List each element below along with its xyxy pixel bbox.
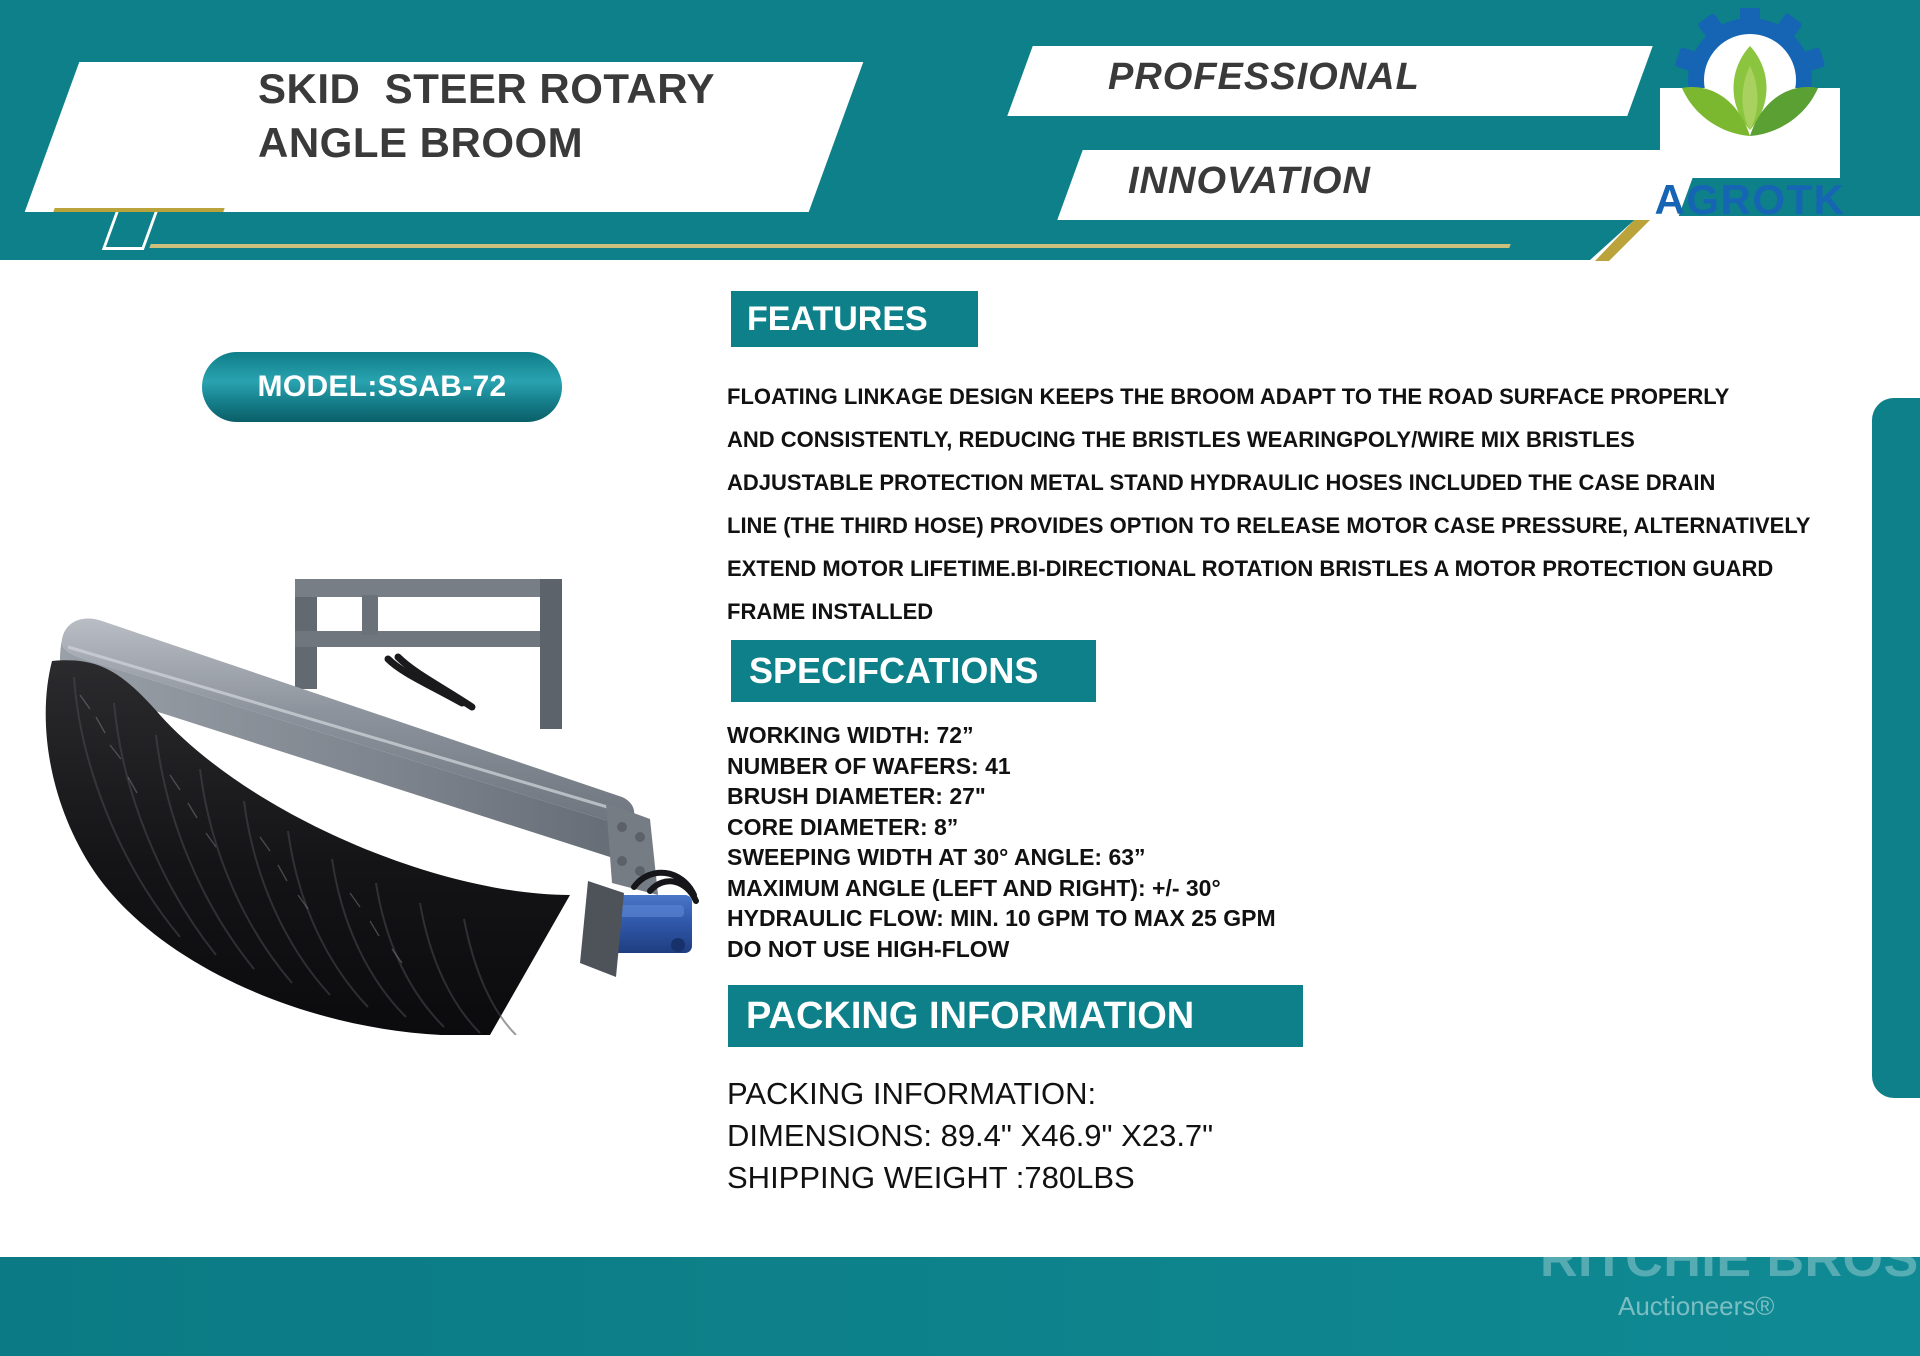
spec-line: WORKING WIDTH: 72”: [727, 720, 1427, 751]
page-title: SKID STEER ROTARY ANGLE BROOM: [258, 62, 878, 170]
hydraulic-hoses: [388, 657, 472, 707]
header-gold-line-2: [149, 244, 1510, 248]
right-edge-tab: [1872, 398, 1920, 1098]
specifications-heading: SPECIFCATIONS: [731, 640, 1096, 702]
features-text: FLOATING LINKAGE DESIGN KEEPS THE BROOM …: [727, 375, 1887, 633]
packing-line: PACKING INFORMATION:: [727, 1073, 1527, 1115]
feature-line: FRAME INSTALLED: [727, 590, 1887, 633]
header-gold-line-1: [53, 208, 224, 212]
header-slanted-strip: [0, 215, 1660, 260]
spec-line: SWEEPING WIDTH AT 30° ANGLE: 63”: [727, 842, 1427, 873]
footer-bar: [0, 1257, 1920, 1356]
gear-leaf-icon: [1660, 8, 1840, 178]
feature-line: EXTEND MOTOR LIFETIME.BI-DIRECTIONAL ROT…: [727, 547, 1887, 590]
packing-text: PACKING INFORMATION: DIMENSIONS: 89.4" X…: [727, 1073, 1527, 1199]
specifications-text: WORKING WIDTH: 72” NUMBER OF WAFERS: 41 …: [727, 720, 1427, 964]
feature-line: LINE (THE THIRD HOSE) PROVIDES OPTION TO…: [727, 504, 1887, 547]
packing-line: SHIPPING WEIGHT :780LBS: [727, 1157, 1527, 1199]
packing-line: DIMENSIONS: 89.4" X46.9" X23.7": [727, 1115, 1527, 1157]
spec-line: HYDRAULIC FLOW: MIN. 10 GPM TO MAX 25 GP…: [727, 903, 1427, 934]
features-heading: FEATURES: [731, 291, 978, 347]
packing-heading: PACKING INFORMATION: [728, 985, 1303, 1047]
spec-line: NUMBER OF WAFERS: 41: [727, 751, 1427, 782]
tagline-innovation: INNOVATION: [1128, 160, 1371, 203]
page-title-line-1: SKID STEER ROTARY: [258, 62, 878, 116]
tagline-professional: PROFESSIONAL: [1108, 56, 1420, 99]
spec-line: CORE DIAMETER: 8”: [727, 812, 1427, 843]
model-badge-label: MODEL:SSAB-72: [258, 370, 507, 404]
spec-line: MAXIMUM ANGLE (LEFT AND RIGHT): +/- 30°: [727, 873, 1427, 904]
motor-mount-bracket: [580, 881, 624, 977]
feature-line: FLOATING LINKAGE DESIGN KEEPS THE BROOM …: [727, 375, 1887, 418]
spec-line: BRUSH DIAMETER: 27": [727, 781, 1427, 812]
brand-name: AGROTK: [1620, 176, 1880, 224]
end-plate: [606, 803, 658, 895]
model-badge: MODEL:SSAB-72: [202, 352, 562, 422]
spec-line: DO NOT USE HIGH-FLOW: [727, 934, 1427, 965]
product-datasheet-page: SKID STEER ROTARY ANGLE BROOM PROFESSION…: [0, 0, 1920, 1356]
feature-line: AND CONSISTENTLY, REDUCING THE BRISTLES …: [727, 418, 1887, 461]
product-image: [10, 565, 710, 1035]
page-title-line-2: ANGLE BROOM: [258, 116, 878, 170]
feature-line: ADJUSTABLE PROTECTION METAL STAND HYDRAU…: [727, 461, 1887, 504]
agrotk-logo: AGROTK: [1620, 8, 1880, 240]
